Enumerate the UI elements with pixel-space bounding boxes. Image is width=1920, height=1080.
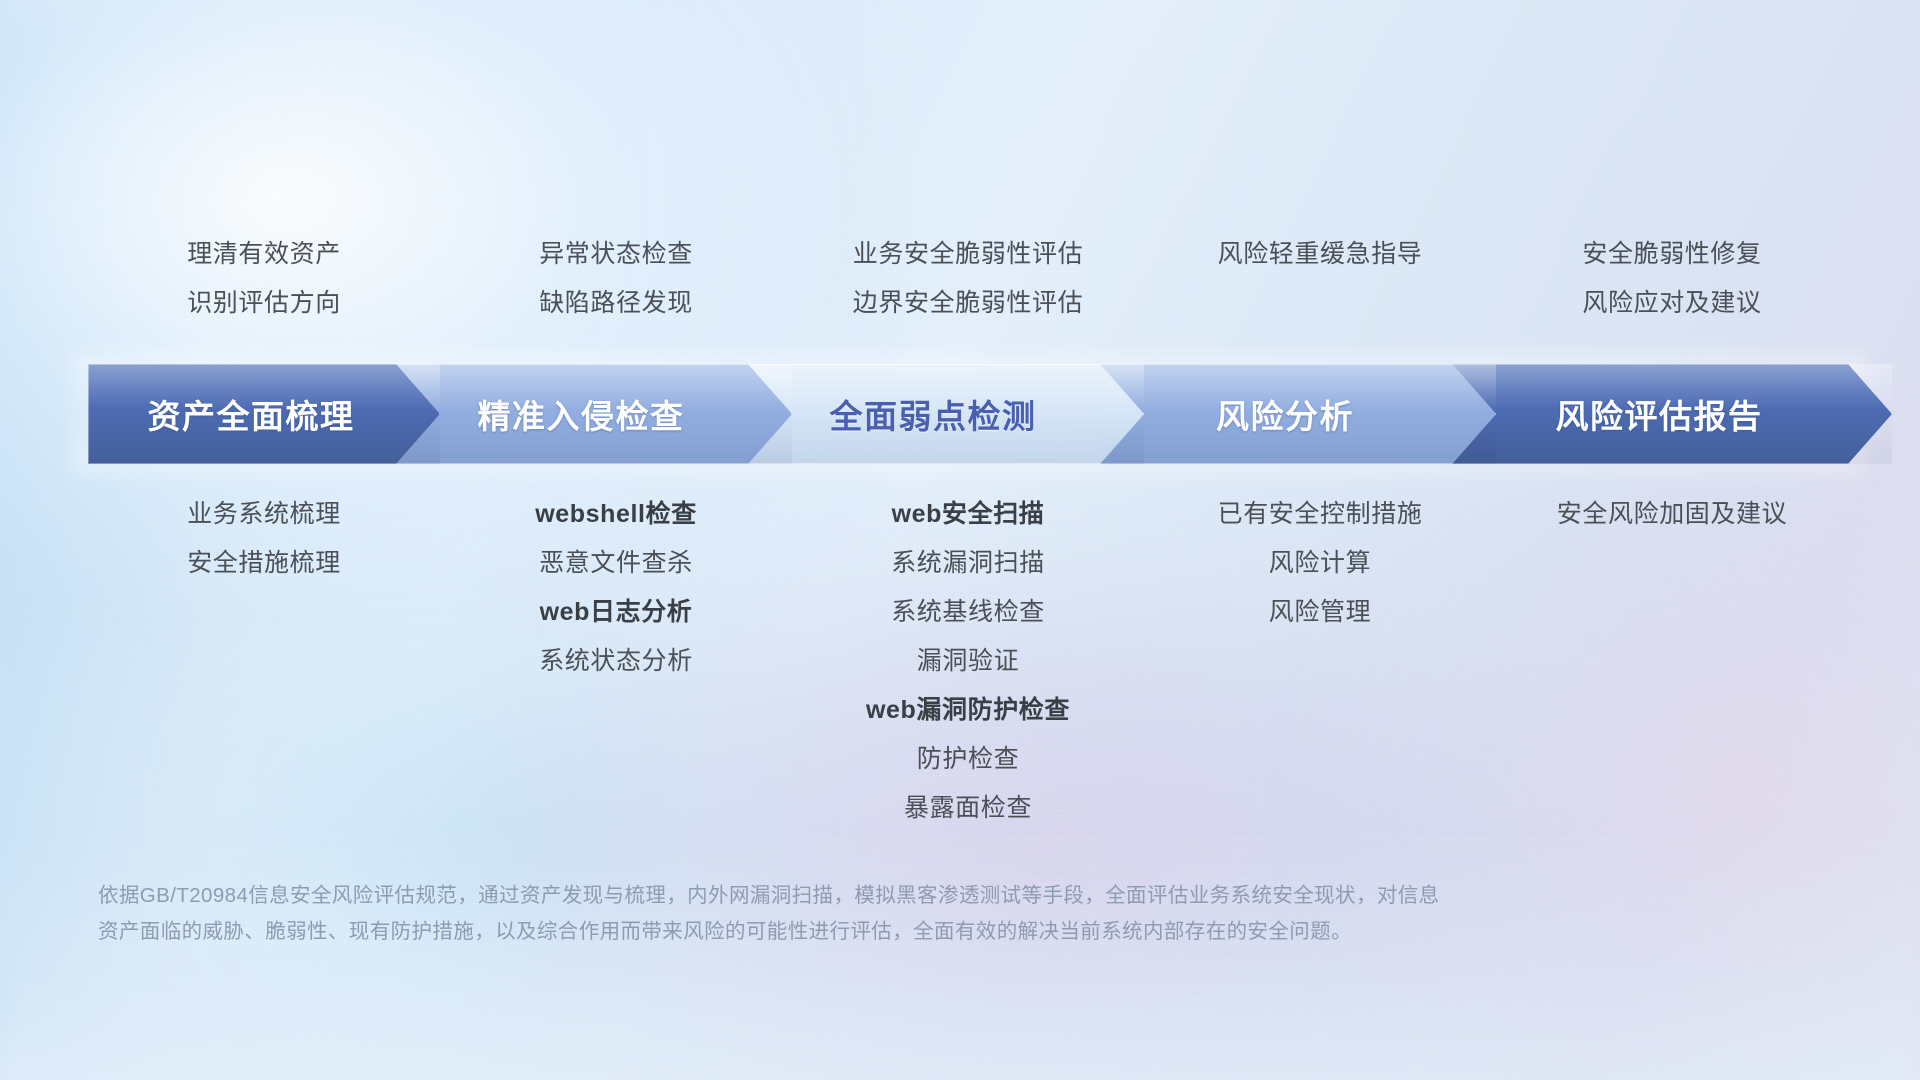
- top-labels-weakness-detection: 业务安全脆弱性评估边界安全脆弱性评估: [792, 230, 1144, 328]
- stage-chevron-label: 风险评估报告: [1556, 390, 1789, 438]
- stage-chevron-label: 资产全面梳理: [148, 390, 381, 438]
- stage-chevron-label: 风险分析: [1216, 390, 1380, 438]
- list-item: webshell检查: [440, 490, 792, 539]
- list-item: 恶意文件查杀: [440, 539, 792, 588]
- stage-chevron-risk-analysis[interactable]: 风险分析: [1100, 364, 1496, 464]
- top-label: 安全脆弱性修复: [1496, 230, 1848, 279]
- bottom-items-intrusion-check: webshell检查恶意文件查杀web日志分析系统状态分析: [440, 490, 792, 686]
- list-item: 漏洞验证: [792, 637, 1144, 686]
- top-label: 风险应对及建议: [1496, 279, 1848, 328]
- list-item: 系统基线检查: [792, 588, 1144, 637]
- list-item: 系统漏洞扫描: [792, 539, 1144, 588]
- list-item: 防护检查: [792, 735, 1144, 784]
- top-label: 边界安全脆弱性评估: [792, 279, 1144, 328]
- top-label: 业务安全脆弱性评估: [792, 230, 1144, 279]
- stage-chevron-band: 资产全面梳理精准入侵检查全面弱点检测风险分析风险评估报告: [88, 364, 1848, 464]
- list-item: 安全风险加固及建议: [1496, 490, 1848, 539]
- list-item: 安全措施梳理: [88, 539, 440, 588]
- list-item: 业务系统梳理: [88, 490, 440, 539]
- process-diagram: 理清有效资产识别评估方向异常状态检查缺陷路径发现业务安全脆弱性评估边界安全脆弱性…: [0, 0, 1920, 1080]
- bottom-item-row: 业务系统梳理安全措施梳理webshell检查恶意文件查杀web日志分析系统状态分…: [0, 490, 1920, 833]
- list-item: 风险计算: [1144, 539, 1496, 588]
- stage-chevron-asset-inventory[interactable]: 资产全面梳理: [88, 364, 440, 464]
- list-item: 风险管理: [1144, 588, 1496, 637]
- list-item: web日志分析: [440, 588, 792, 637]
- top-label: 缺陷路径发现: [440, 279, 792, 328]
- list-item: web安全扫描: [792, 490, 1144, 539]
- bottom-items-asset-inventory: 业务系统梳理安全措施梳理: [88, 490, 440, 588]
- top-label: 识别评估方向: [88, 279, 440, 328]
- bottom-items-risk-report: 安全风险加固及建议: [1496, 490, 1848, 539]
- top-label: 异常状态检查: [440, 230, 792, 279]
- stage-chevron-weakness-detection[interactable]: 全面弱点检测: [748, 364, 1144, 464]
- stage-chevron-risk-report[interactable]: 风险评估报告: [1452, 364, 1892, 464]
- stage-chevron-label: 精准入侵检查: [478, 390, 711, 438]
- list-item: 暴露面检查: [792, 784, 1144, 833]
- footer-line-2: 资产面临的威胁、脆弱性、现有防护措施，以及综合作用而带来风险的可能性进行评估，全…: [98, 914, 1658, 950]
- stage-chevron-label: 全面弱点检测: [830, 390, 1063, 438]
- top-labels-risk-report: 安全脆弱性修复风险应对及建议: [1496, 230, 1848, 328]
- stage-chevron-intrusion-check[interactable]: 精准入侵检查: [396, 364, 792, 464]
- bottom-items-risk-analysis: 已有安全控制措施风险计算风险管理: [1144, 490, 1496, 637]
- top-label: 风险轻重缓急指导: [1144, 230, 1496, 279]
- top-labels-intrusion-check: 异常状态检查缺陷路径发现: [440, 230, 792, 328]
- top-labels-risk-analysis: 风险轻重缓急指导: [1144, 230, 1496, 328]
- top-label-row: 理清有效资产识别评估方向异常状态检查缺陷路径发现业务安全脆弱性评估边界安全脆弱性…: [0, 230, 1920, 328]
- footer-line-1: 依据GB/T20984信息安全风险评估规范，通过资产发现与梳理，内外网漏洞扫描，…: [98, 878, 1658, 914]
- bottom-items-weakness-detection: web安全扫描系统漏洞扫描系统基线检查漏洞验证web漏洞防护检查防护检查暴露面检…: [792, 490, 1144, 833]
- list-item: 系统状态分析: [440, 637, 792, 686]
- top-label: 理清有效资产: [88, 230, 440, 279]
- list-item: web漏洞防护检查: [792, 686, 1144, 735]
- footer-description: 依据GB/T20984信息安全风险评估规范，通过资产发现与梳理，内外网漏洞扫描，…: [98, 878, 1658, 950]
- top-labels-asset-inventory: 理清有效资产识别评估方向: [88, 230, 440, 328]
- list-item: 已有安全控制措施: [1144, 490, 1496, 539]
